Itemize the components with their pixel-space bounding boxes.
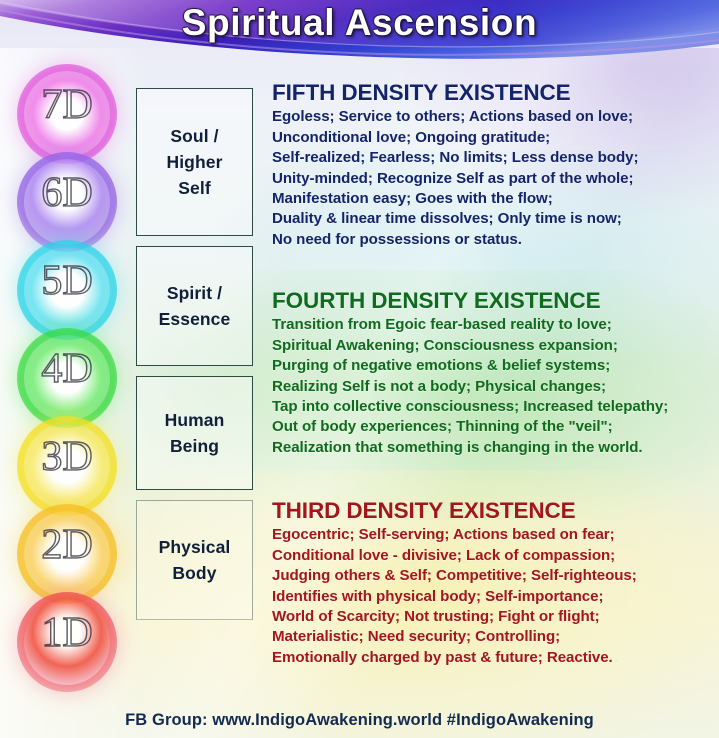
section-line: Egoless; Service to others; Actions base… bbox=[272, 107, 716, 127]
aspect-box-soul-higher-self: Soul / Higher Self bbox=[136, 88, 253, 236]
aspect-box-physical-body: Physical Body bbox=[136, 500, 253, 620]
section-line: Self-realized; Fearless; No limits; Less… bbox=[272, 148, 716, 168]
section-line: Realization that something is changing i… bbox=[272, 438, 716, 458]
aspect-line-2: Higher bbox=[166, 152, 222, 172]
density-label-5d: 5D bbox=[8, 260, 126, 302]
density-scale-column: 7D 6D 5D 4D 3D 2D 1D bbox=[8, 62, 126, 702]
aspect-line-1: Spirit / bbox=[167, 283, 222, 303]
section-heading-fifth: FIFTH DENSITY EXISTENCE bbox=[272, 80, 716, 105]
section-line: Unconditional love; Ongoing gratitude; bbox=[272, 128, 716, 148]
section-line: Purging of negative emotions & belief sy… bbox=[272, 356, 716, 376]
section-line: Judging others & Self; Competitive; Self… bbox=[272, 566, 716, 586]
section-line: Tap into collective consciousness; Incre… bbox=[272, 397, 716, 417]
section-list-third: Egocentric; Self-serving; Actions based … bbox=[272, 525, 716, 668]
section-heading-third: THIRD DENSITY EXISTENCE bbox=[272, 498, 716, 523]
section-line: Conditional love - divisive; Lack of com… bbox=[272, 546, 716, 566]
aspect-line-2: Essence bbox=[159, 309, 231, 329]
aspect-line-2: Being bbox=[170, 436, 219, 456]
density-label-7d: 7D bbox=[8, 84, 126, 126]
section-line: Transition from Egoic fear-based reality… bbox=[272, 315, 716, 335]
title-banner: Spiritual Ascension bbox=[0, 0, 719, 62]
density-label-1d: 1D bbox=[8, 612, 126, 654]
section-line: Materialistic; Need security; Controllin… bbox=[272, 627, 716, 647]
density-label-4d: 4D bbox=[8, 348, 126, 390]
aspect-line-2: Body bbox=[172, 563, 216, 583]
section-line: Unity-minded; Recognize Self as part of … bbox=[272, 169, 716, 189]
spiritual-ascension-infographic: Spiritual Ascension 7D 6D 5D 4D 3D bbox=[0, 0, 719, 738]
section-list-fourth: Transition from Egoic fear-based reality… bbox=[272, 315, 716, 458]
density-label-6d: 6D bbox=[8, 172, 126, 214]
section-line: Realizing Self is not a body; Physical c… bbox=[272, 377, 716, 397]
aspect-line-1: Soul / bbox=[170, 126, 218, 146]
density-label-3d: 3D bbox=[8, 436, 126, 478]
section-line: Egocentric; Self-serving; Actions based … bbox=[272, 525, 716, 545]
density-orb-1d: 1D bbox=[8, 590, 126, 694]
section-line: World of Scarcity; Not trusting; Fight o… bbox=[272, 607, 716, 627]
aspect-box-text: Physical Body bbox=[159, 534, 231, 587]
section-third-density: THIRD DENSITY EXISTENCE Egocentric; Self… bbox=[272, 498, 716, 668]
aspect-box-human-being: Human Being bbox=[136, 376, 253, 490]
aspect-line-1: Human bbox=[165, 410, 225, 430]
aspect-box-text: Human Being bbox=[165, 407, 225, 460]
density-label-2d: 2D bbox=[8, 524, 126, 566]
page-title: Spiritual Ascension bbox=[0, 2, 719, 44]
section-line: Spiritual Awakening; Consciousness expan… bbox=[272, 336, 716, 356]
section-line: Identifies with physical body; Self-impo… bbox=[272, 587, 716, 607]
section-list-fifth: Egoless; Service to others; Actions base… bbox=[272, 107, 716, 250]
section-heading-fourth: FOURTH DENSITY EXISTENCE bbox=[272, 288, 716, 313]
aspect-box-text: Spirit / Essence bbox=[159, 280, 231, 333]
aspect-box-text: Soul / Higher Self bbox=[166, 123, 222, 202]
section-line: Manifestation easy; Goes with the flow; bbox=[272, 189, 716, 209]
section-line: Out of body experiences; Thinning of the… bbox=[272, 417, 716, 437]
section-fourth-density: FOURTH DENSITY EXISTENCE Transition from… bbox=[272, 288, 716, 458]
section-line: No need for possessions or status. bbox=[272, 230, 716, 250]
section-line: Duality & linear time dissolves; Only ti… bbox=[272, 209, 716, 229]
aspect-line-3: Self bbox=[178, 178, 211, 198]
footer-credit: FB Group: www.IndigoAwakening.world #Ind… bbox=[0, 711, 719, 730]
aspect-line-1: Physical bbox=[159, 537, 231, 557]
aspect-box-spirit-essence: Spirit / Essence bbox=[136, 246, 253, 366]
section-fifth-density: FIFTH DENSITY EXISTENCE Egoless; Service… bbox=[272, 80, 716, 250]
section-line: Emotionally charged by past & future; Re… bbox=[272, 648, 716, 668]
